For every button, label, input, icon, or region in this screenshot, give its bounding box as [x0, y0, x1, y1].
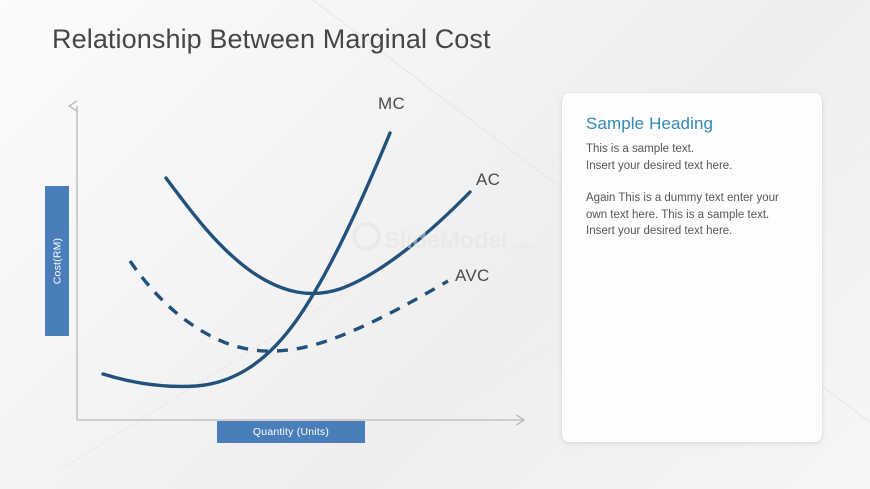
- curve-label-mc: MC: [378, 94, 405, 114]
- panel-body: This is a sample text. Insert your desir…: [586, 141, 801, 240]
- x-axis-title-label: Quantity (Units): [253, 426, 329, 438]
- curve-label-avc: AVC: [455, 266, 490, 286]
- y-axis-title-label: Cost(RM): [51, 238, 63, 285]
- panel-paragraph-2: Again This is a dummy text enter your ow…: [586, 190, 801, 240]
- panel-paragraph-1-line-2: Insert your desired text here.: [586, 160, 732, 172]
- curve-label-ac: AC: [476, 170, 500, 190]
- x-axis-title: Quantity (Units): [217, 421, 365, 443]
- chart-svg: [0, 0, 560, 489]
- cost-curves-chart: Cost(RM) Quantity (Units) MC AC AVC Slid…: [0, 0, 560, 489]
- panel-paragraph-1-line-1: This is a sample text.: [586, 143, 694, 155]
- curve-ac: [166, 178, 470, 293]
- slide-canvas: Relationship Between Marginal Cost: [0, 0, 870, 489]
- panel-heading: Sample Heading: [586, 114, 713, 134]
- curve-avc: [130, 261, 448, 351]
- y-axis-title: Cost(RM): [45, 186, 69, 336]
- panel-paragraph-1: This is a sample text. Insert your desir…: [586, 141, 801, 174]
- text-panel: Sample Heading This is a sample text. In…: [562, 93, 822, 442]
